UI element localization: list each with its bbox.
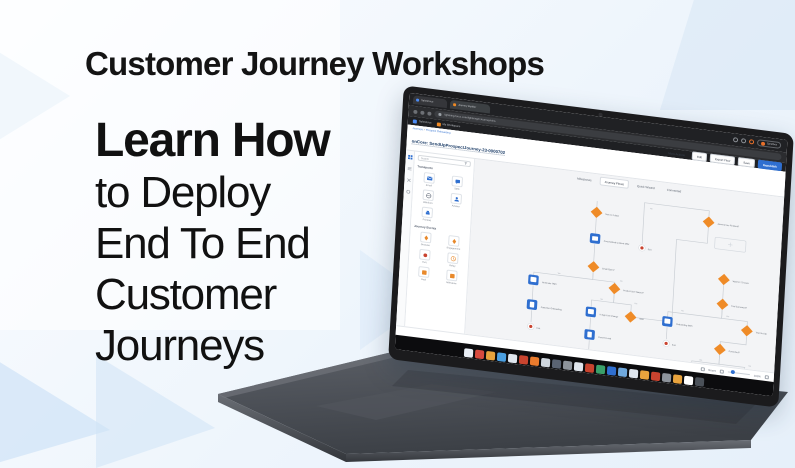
palette-item[interactable]: Delay (440, 251, 466, 269)
flow-node-decision[interactable]: Converted? (714, 343, 741, 358)
dock-app-icon[interactable] (552, 359, 561, 369)
dock-app-icon[interactable] (651, 372, 660, 382)
extension-icon[interactable] (749, 139, 754, 144)
svg-text:No: No (620, 280, 622, 282)
palette-item-label: Printout (423, 218, 431, 222)
palette-item[interactable]: SMS (444, 175, 470, 193)
palette-item-label: Advisor (452, 204, 460, 208)
svg-text:No: No (650, 208, 652, 210)
svg-text:In App Live Change: In App Live Change (600, 313, 620, 318)
flow-node-action[interactable]: Customer Onboarding (527, 299, 563, 313)
palette-search-placeholder: Search (421, 157, 429, 161)
flow-node-exit[interactable]: Exit (663, 340, 677, 348)
dock-app-icon[interactable] (618, 367, 627, 377)
dock-app-icon[interactable] (607, 366, 616, 376)
tab-favicon-icon (453, 103, 456, 106)
svg-text:No: No (600, 299, 602, 301)
grid-icon[interactable] (720, 369, 724, 373)
dock-app-icon[interactable] (585, 363, 594, 373)
fullscreen-icon[interactable] (765, 375, 769, 379)
svg-text:Exit: Exit (648, 248, 652, 251)
svg-text:Customer Onboarding: Customer Onboarding (541, 306, 563, 312)
svg-text:Convert Lead: Convert Lead (598, 336, 612, 341)
palette-item-label: Goal (421, 278, 426, 282)
dock-app-icon[interactable] (684, 376, 693, 386)
palette-item[interactable]: Advisor (443, 192, 469, 210)
export-flow-button[interactable]: Export Flow (710, 154, 736, 166)
bookmark-label: My Workspace (443, 123, 461, 128)
forward-icon[interactable] (420, 110, 424, 114)
headline-line-5: Journeys (95, 320, 330, 371)
dock-app-icon[interactable] (596, 365, 605, 375)
profile-chip[interactable]: Sandbox (757, 139, 782, 149)
profile-avatar (761, 141, 765, 145)
flow-node-action[interactable]: Convert Lead (584, 329, 612, 342)
zoom-slider-handle[interactable] (731, 370, 735, 374)
svg-text:Converted?: Converted? (729, 350, 741, 354)
flow-node-action[interactable]: Reminder SMS (528, 274, 558, 288)
svg-text:Email Open?: Email Open? (602, 268, 615, 272)
dock-app-icon[interactable] (464, 348, 473, 358)
dock-app-icon[interactable] (530, 356, 539, 366)
palette-item-label: SMS (454, 187, 459, 191)
dock-app-icon[interactable] (475, 350, 484, 360)
palette-item-label: Webform (423, 201, 433, 205)
flow-node-decision[interactable]: Trial Converted? (716, 298, 748, 313)
promo-copy: Customer Journey Workshops Learn How to … (0, 0, 420, 468)
svg-text:Onboarding SMS: Onboarding SMS (676, 323, 693, 328)
flow-node-exit[interactable]: Exit (638, 244, 652, 252)
tab-quick-wizard[interactable]: Quick Wizard (633, 182, 659, 192)
breadcrumb-child[interactable]: Prospect Onboarding (426, 129, 451, 135)
dock-app-icon[interactable] (486, 351, 495, 361)
flow-edge-labels: Yes No No Yes No Yes Yes No No (554, 197, 760, 368)
save-button[interactable]: Save (738, 157, 755, 168)
profile-label: Sandbox (767, 142, 777, 146)
dock-app-icon[interactable] (541, 358, 550, 368)
tab-milestones[interactable]: Milestones (573, 174, 596, 184)
svg-text:No: No (748, 366, 750, 368)
dock-app-icon[interactable] (574, 362, 583, 372)
flow-node-action[interactable]: Personalised Content Offer (590, 233, 630, 248)
dock-app-icon[interactable] (563, 361, 572, 371)
headline-line-1: Learn How (95, 115, 330, 167)
palette-item-label: Exit (422, 261, 426, 264)
tab-connected[interactable]: Connected (663, 185, 686, 195)
headline-line-3: End To End (95, 218, 330, 269)
flow-node-decision[interactable]: Wait (624, 311, 644, 325)
bookmark-icon (436, 122, 440, 126)
browser-tab-label: Journey Builder (458, 104, 476, 109)
svg-text:Exit: Exit (672, 344, 676, 347)
svg-text:No: No (681, 310, 683, 312)
dock-app-icon[interactable] (629, 369, 638, 379)
dock-app-icon[interactable] (497, 352, 506, 362)
flow-node-decision[interactable]: New In 3 days (590, 206, 619, 221)
milestone-icon (446, 270, 458, 282)
reload-icon[interactable] (427, 111, 431, 115)
dock-app-icon[interactable] (662, 373, 671, 383)
svg-text:Reminder SMS: Reminder SMS (542, 281, 557, 286)
star-icon[interactable] (741, 138, 746, 143)
decision-icon (420, 231, 432, 243)
more-actions-button[interactable]: More Actions (664, 149, 689, 159)
dock-app-icon[interactable] (519, 355, 528, 365)
advisor-icon (450, 193, 462, 205)
palette-item-label: Email (426, 184, 432, 188)
svg-text:Yes: Yes (699, 359, 702, 361)
filter-icon[interactable] (464, 161, 468, 165)
svg-text:New In 3 days: New In 3 days (605, 214, 619, 218)
flow-node-decision[interactable]: Trial Set Up (741, 324, 768, 339)
email-icon (423, 172, 435, 184)
svg-text:Yes: Yes (726, 316, 729, 318)
palette-item[interactable]: Milestone (439, 269, 465, 287)
palette-item-label: Decision (421, 243, 430, 247)
webform-icon (422, 189, 434, 201)
exit-icon (419, 249, 431, 261)
dock-app-icon[interactable] (673, 374, 682, 384)
browser-tab-label: Salesforce (421, 99, 433, 103)
svg-text:Yes: Yes (634, 303, 637, 305)
svg-text:Journey Use Finished?: Journey Use Finished? (717, 223, 740, 229)
dock-app-icon[interactable] (695, 377, 704, 387)
svg-text:Yes: Yes (557, 273, 560, 275)
dock-app-icon[interactable] (640, 370, 649, 380)
flow-node-decision[interactable]: Wait for 72 hours (718, 273, 749, 288)
search-icon[interactable] (733, 137, 738, 142)
bookmark-label: Salesforce (419, 120, 432, 124)
printer-icon (421, 207, 433, 219)
dock-app-icon[interactable] (508, 354, 517, 364)
page-title: Learn How to Deploy End To End Customer … (95, 115, 330, 371)
palette-item-label: Engagement (447, 246, 461, 251)
svg-text:Product Use Started?: Product Use Started? (623, 289, 644, 295)
svg-text:Trial Converted?: Trial Converted? (731, 305, 748, 310)
svg-text:Personalised Content Offer: Personalised Content Offer (604, 240, 630, 246)
flow-node-action[interactable]: Onboarding SMS (662, 316, 693, 330)
svg-text:Trial Set Up: Trial Set Up (756, 331, 768, 335)
palette-grid-transports: Email SMS Webform (414, 171, 470, 227)
palette-item[interactable]: Engagement (441, 234, 467, 252)
zoom-slider[interactable] (728, 371, 750, 375)
sms-icon (451, 175, 463, 187)
zoom-level: 100% (754, 373, 761, 378)
palette-item[interactable]: Email (416, 171, 442, 189)
engagement-icon (448, 235, 460, 247)
svg-text:Exit: Exit (537, 327, 541, 330)
republish-button[interactable]: Republish (758, 160, 782, 172)
fit-screen-icon[interactable] (700, 367, 704, 371)
flow-node-exit[interactable]: Exit (527, 323, 541, 331)
reset-zoom-button[interactable]: Reset (708, 368, 716, 373)
flow-node-decision[interactable]: Email Open? (587, 260, 615, 275)
laptop-screen: Salesforce Journey Builder Sandbox (395, 93, 788, 397)
lock-icon (438, 113, 441, 116)
headline-line-2: to Deploy (95, 167, 330, 218)
laptop-lid: Salesforce Journey Builder Sandbox (388, 85, 794, 407)
headline-line-4: Customer (95, 269, 330, 320)
palette-item-label: Delay (449, 264, 455, 268)
add-node-icon[interactable] (728, 242, 733, 247)
page-kicker: Customer Journey Workshops (85, 45, 544, 83)
svg-text:Wait for 72 hours: Wait for 72 hours (733, 280, 749, 285)
edit-button[interactable]: Edit (692, 151, 707, 162)
delay-icon (447, 252, 459, 264)
palette-item-label: Milestone (446, 281, 456, 285)
